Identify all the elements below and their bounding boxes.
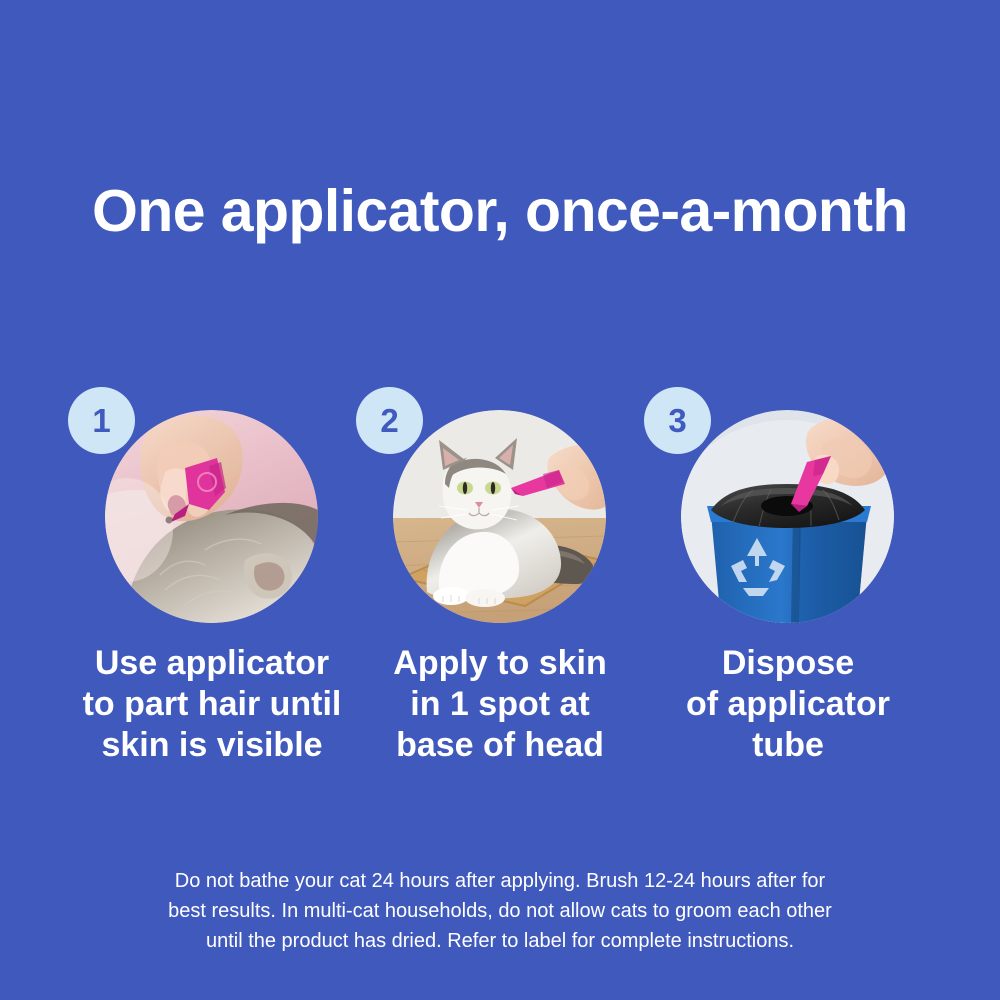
step-1-caption-line-2: to part hair until bbox=[67, 684, 357, 725]
step-card-1: 1 Use applicator to part hair until skin… bbox=[68, 386, 356, 766]
step-1-caption: Use applicator to part hair until skin i… bbox=[67, 643, 357, 766]
step-2-photo-wrap: 2 bbox=[356, 386, 644, 626]
step-1-photo bbox=[105, 410, 318, 623]
step-number-3: 3 bbox=[644, 387, 711, 454]
step-3-photo-illustration bbox=[681, 410, 894, 623]
step-card-3: 3 Dispose of applicator tube bbox=[644, 386, 932, 766]
step-1-photo-wrap: 1 bbox=[68, 386, 356, 626]
step-1-caption-line-1: Use applicator bbox=[67, 643, 357, 684]
footer-line-1: Do not bathe your cat 24 hours after app… bbox=[60, 866, 940, 896]
step-2-caption-line-1: Apply to skin bbox=[355, 643, 645, 684]
step-number-1-label: 1 bbox=[92, 404, 110, 437]
step-3-photo-wrap: 3 bbox=[644, 386, 932, 626]
step-1-caption-line-3: skin is visible bbox=[67, 725, 357, 766]
footer-disclaimer: Do not bathe your cat 24 hours after app… bbox=[60, 866, 940, 956]
step-2-caption-line-2: in 1 spot at bbox=[355, 684, 645, 725]
step-3-caption-line-2: of applicator bbox=[643, 684, 933, 725]
step-2-caption-line-3: base of head bbox=[355, 725, 645, 766]
infographic-poster: One applicator, once-a-month bbox=[0, 0, 1000, 1000]
footer-line-2: best results. In multi-cat households, d… bbox=[60, 896, 940, 926]
step-number-2: 2 bbox=[356, 387, 423, 454]
step-3-caption-line-1: Dispose bbox=[643, 643, 933, 684]
step-card-2: 2 Apply to skin in 1 spot at base of hea… bbox=[356, 386, 644, 766]
steps-row: 1 Use applicator to part hair until skin… bbox=[0, 386, 1000, 766]
step-2-photo-illustration bbox=[393, 410, 606, 623]
step-3-caption-line-3: tube bbox=[643, 725, 933, 766]
page-title: One applicator, once-a-month bbox=[92, 176, 932, 246]
step-2-caption: Apply to skin in 1 spot at base of head bbox=[355, 643, 645, 766]
step-3-caption: Dispose of applicator tube bbox=[643, 643, 933, 766]
step-number-1: 1 bbox=[68, 387, 135, 454]
footer-line-3: until the product has dried. Refer to la… bbox=[60, 926, 940, 956]
step-3-photo bbox=[681, 410, 894, 623]
step-2-photo bbox=[393, 410, 606, 623]
step-number-3-label: 3 bbox=[668, 404, 686, 437]
step-number-2-label: 2 bbox=[380, 404, 398, 437]
step-1-photo-illustration bbox=[105, 410, 318, 623]
